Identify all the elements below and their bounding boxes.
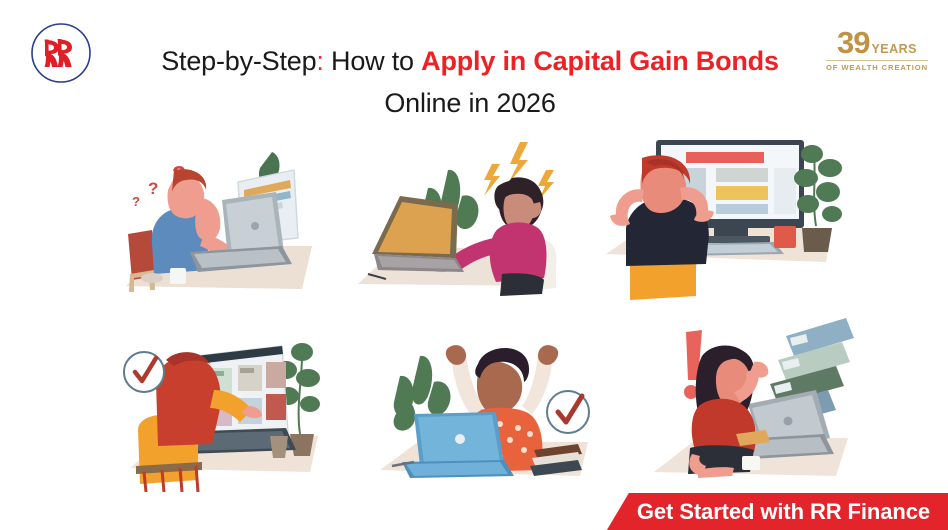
headline-colon: : xyxy=(316,46,323,76)
illustration-person-laptop-checkmark xyxy=(110,324,330,492)
illustration-grid: ? ? ? xyxy=(0,128,948,493)
rr-logo-icon xyxy=(28,20,94,86)
page-title: Step-by-Step: How to Apply in Capital Ga… xyxy=(110,40,830,124)
illustration-woman-laptop-exclamation xyxy=(640,316,870,494)
illustration-celebrating-person-laptop xyxy=(372,324,602,492)
illustration-confused-man-laptop: ? ? ? xyxy=(112,134,327,304)
headline-subline: Online in 2026 xyxy=(384,88,555,118)
svg-text:?: ? xyxy=(132,194,140,209)
check-circle-icon xyxy=(547,391,589,433)
headline-accent: Apply in Capital Gain Bonds xyxy=(421,46,779,76)
badge-years-label: YEARS xyxy=(871,43,917,58)
check-circle-icon xyxy=(124,352,164,392)
badge-tagline: OF WEALTH CREATION xyxy=(826,60,928,71)
poster-canvas: 39 YEARS OF WEALTH CREATION Step-by-Step… xyxy=(0,0,948,530)
headline-connector: How to xyxy=(324,46,421,76)
illustration-frustrated-woman-laptop xyxy=(352,134,572,304)
svg-text:?: ? xyxy=(148,179,158,198)
stressed-person-monitor-icon xyxy=(596,132,846,304)
cta-banner-label: Get Started with RR Finance xyxy=(637,499,930,525)
confused-man-laptop-icon: ? ? ? xyxy=(112,134,327,304)
anniversary-badge: 39 YEARS OF WEALTH CREATION xyxy=(818,28,936,76)
headline-prefix: Step-by-Step xyxy=(161,46,316,76)
headline-line-2: Online in 2026 xyxy=(110,82,830,124)
woman-laptop-exclamation-icon xyxy=(640,316,870,494)
person-laptop-checkmark-icon xyxy=(110,324,330,492)
badge-top-row: 39 YEARS xyxy=(818,28,936,57)
rr-monogram-logo[interactable] xyxy=(28,20,94,86)
badge-number: 39 xyxy=(837,28,869,57)
illustration-stressed-person-monitor xyxy=(596,132,846,304)
cta-banner[interactable]: Get Started with RR Finance xyxy=(607,493,948,530)
headline-line-1: Step-by-Step: How to Apply in Capital Ga… xyxy=(110,40,830,82)
frustrated-woman-laptop-icon xyxy=(352,134,572,304)
celebrating-person-laptop-icon xyxy=(372,324,602,492)
